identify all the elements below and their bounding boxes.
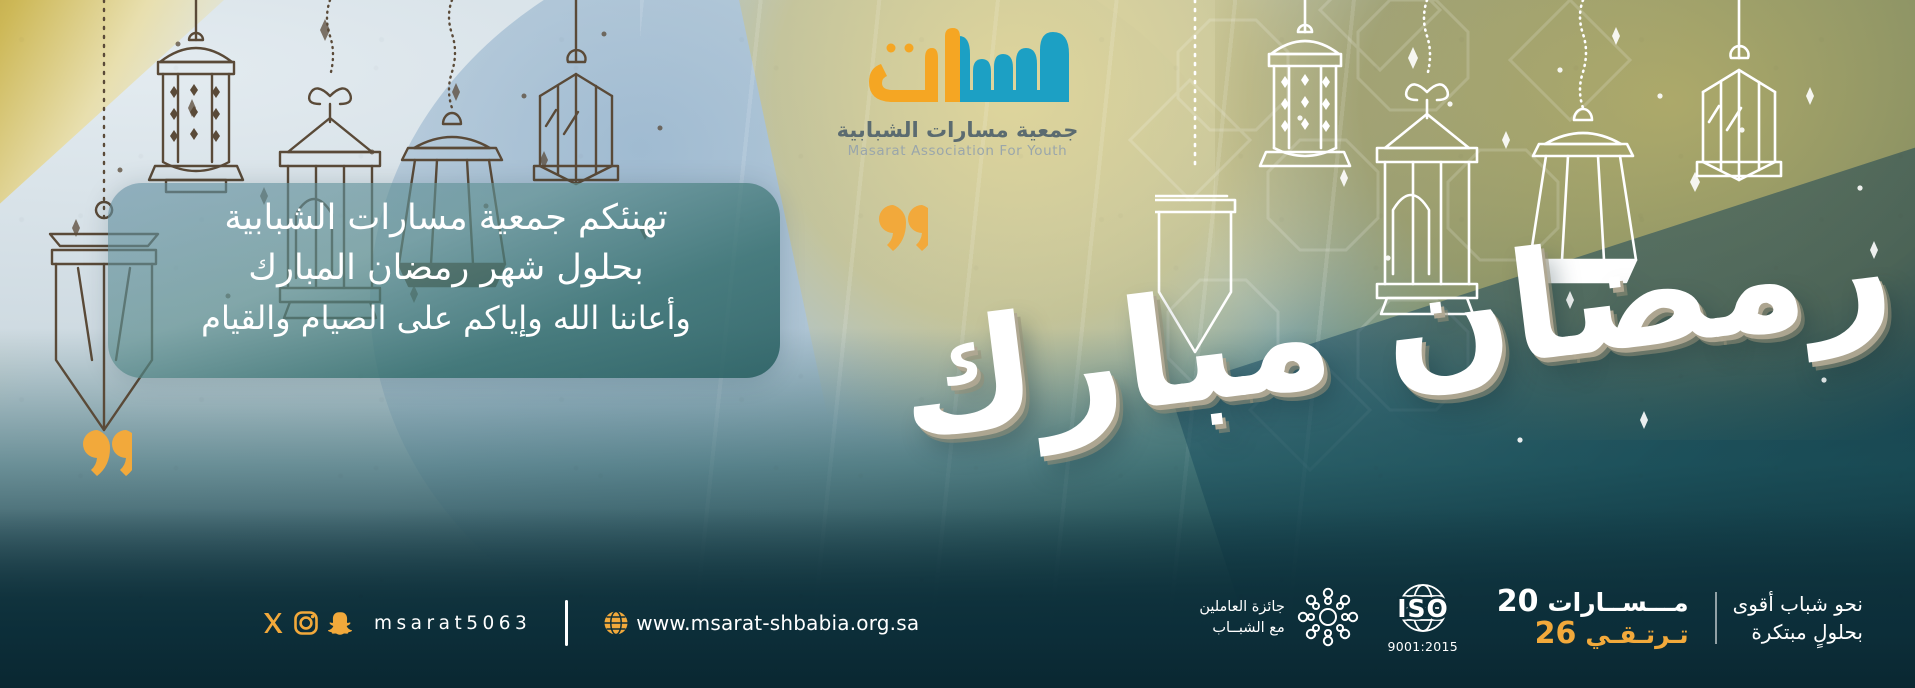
social-icons-group [258,608,354,638]
people-circle-icon [1295,585,1361,651]
award-label-line-2: مع الشبــاب [1199,618,1284,639]
website-group[interactable]: www.msarat-shbabia.org.sa [602,609,919,637]
organization-logo: جمعية مسارات الشبابية Masarat Associatio… [828,24,1088,159]
hero-calligraphy: رمضان مبارك [1015,175,1775,475]
greeting-line-1: تهنئكم جمعية مسارات الشبابية [96,196,796,240]
snapchat-icon[interactable] [324,608,354,638]
quote-mark-close-icon [70,430,132,476]
iso-standard-number: 9001:2015 [1377,639,1469,654]
social-handle[interactable]: msarat5063 [374,613,531,634]
instagram-icon[interactable] [291,608,321,638]
ramadan-mubarak-text: رمضان مبارك [889,178,1901,472]
masarat-2026-brand: مـــســارات 20 تـرتـقـي 26 [1497,587,1689,649]
footer-divider [565,600,568,646]
masarat-wordmark-icon [833,24,1083,114]
footer-brand-group: جائزة العاملين مع الشبــاب [1197,582,1863,654]
brand-row-top: مـــســارات 20 [1497,587,1689,617]
footer-contact-group: msarat5063 www.msarat-shbabia.org.sa [258,600,919,646]
brand-word-bottom: تـرتـقـي [1585,620,1688,649]
website-url[interactable]: www.msarat-shbabia.org.sa [636,611,919,635]
brand-row-bottom: تـرتـقـي 26 [1497,619,1689,649]
ramadan-banner: جمعية مسارات الشبابية Masarat Associatio… [0,0,1915,688]
globe-icon [602,609,630,637]
tagline-line-1: نحو شباب أقوى [1733,590,1863,618]
brand-number-top: 20 [1497,587,1539,617]
brand-number-bottom: 26 [1535,619,1577,649]
svg-text:ISO: ISO [1397,594,1449,623]
tagline: نحو شباب أقوى بحلولٍ مبتكرة [1733,590,1863,646]
greeting-line-3: وأعاننا الله وإياكم على الصيام والقيام [96,298,796,338]
quote-mark-open-icon [866,205,928,251]
brand-word-top: مـــســارات [1548,588,1689,617]
iso-certification: ISO 9001:2015 [1377,582,1469,654]
tagline-line-2: بحلولٍ مبتكرة [1733,618,1863,646]
logo-arabic-name: جمعية مسارات الشبابية [828,118,1088,142]
logo-english-name: Masarat Association For Youth [828,143,1088,159]
iso-globe-icon: ISO [1377,582,1469,634]
greeting-text: تهنئكم جمعية مسارات الشبابية بحلول شهر ر… [96,196,796,339]
greeting-line-2: بحلول شهر رمضان المبارك [96,246,796,290]
award-label-line-1: جائزة العاملين [1199,597,1284,618]
award-label: جائزة العاملين مع الشبــاب [1199,597,1284,639]
x-icon[interactable] [258,608,288,638]
footer-bar: msarat5063 www.msarat-shbabia.org.sa جائ… [0,560,1915,688]
brand-divider [1715,592,1717,644]
